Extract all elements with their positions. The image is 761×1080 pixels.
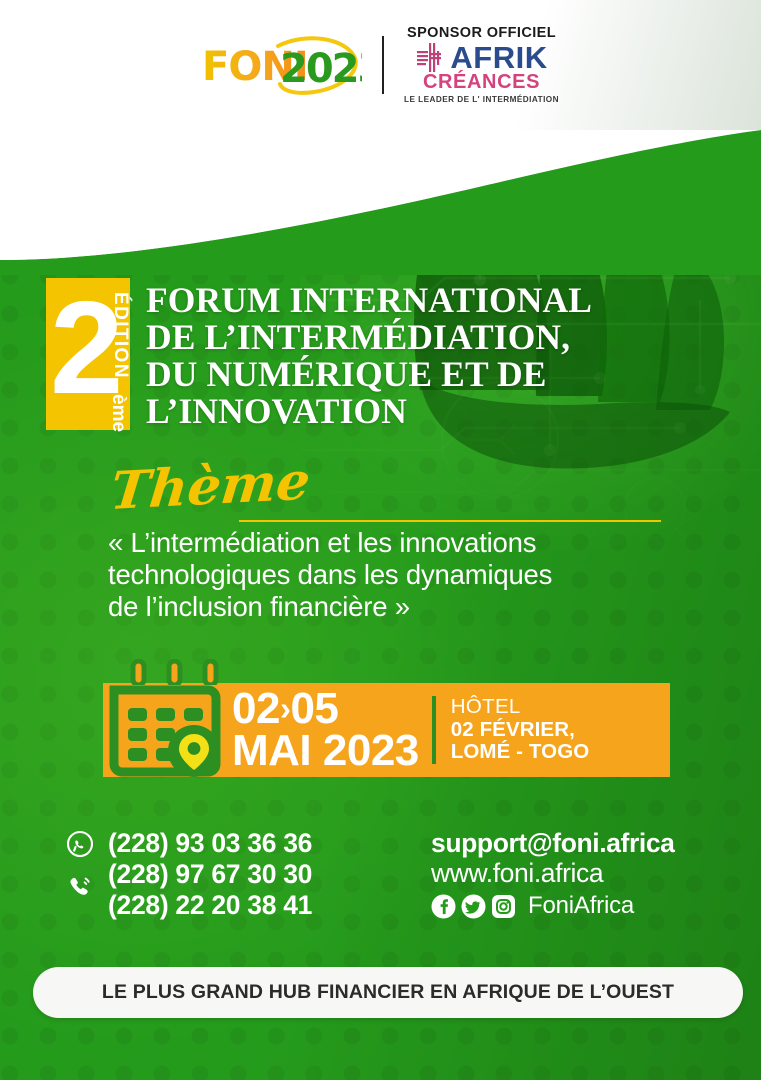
phone-icon-column <box>66 828 100 921</box>
social-handle[interactable]: FoniAfrica <box>528 892 634 920</box>
title-line-3: DU NUMÉRIQUE ET DE <box>146 356 592 393</box>
afrik-wordmark: AFRIK <box>450 43 547 72</box>
logo-divider <box>382 36 384 94</box>
venue-label: HÔTEL <box>451 696 590 719</box>
theme-line-2: technologiques dans les dynamiques <box>108 559 708 591</box>
theme-rule <box>239 520 661 522</box>
theme-line-1: « L’intermédiation et les innovations <box>108 527 708 559</box>
creances-wordmark: CRÉANCES <box>404 72 559 92</box>
theme-heading: Thème <box>108 466 708 528</box>
venue-line-2: LOMÉ - TOGO <box>451 741 590 764</box>
date-month-year: MAI 2023 <box>232 730 419 772</box>
svg-text:2023: 2023 <box>280 46 362 92</box>
date-text-group: 02›05 MAI 2023 HÔTEL 02 FÉVRIER, LOMÉ - … <box>232 683 672 777</box>
footer-tagline: LE PLUS GRAND HUB FINANCIER EN AFRIQUE D… <box>102 981 674 1004</box>
title-block: 2 ÉDITION ème FORUM INTERNATIONAL DE L’I… <box>46 278 592 430</box>
phone-ringing-icon[interactable] <box>66 873 94 903</box>
theme-line-3: de l’inclusion financière » <box>108 591 708 623</box>
whatsapp-icon[interactable] <box>66 830 94 858</box>
phone-group: (228) 93 03 36 36 (228) 97 67 30 30 (228… <box>66 828 312 921</box>
header: FONI 2023 SPONSOR OFFICIEL AFRIK <box>0 0 761 130</box>
venue-block: HÔTEL 02 FÉVRIER, LOMÉ - TOGO <box>451 696 590 765</box>
event-dates: 02›05 MAI 2023 <box>232 688 419 772</box>
title-line-2: DE L’INTERMÉDIATION, <box>146 319 592 356</box>
title-line-1: FORUM INTERNATIONAL <box>146 282 592 319</box>
phone-number-2[interactable]: (228) 97 67 30 30 <box>108 859 312 890</box>
calendar-location-icon <box>108 668 226 780</box>
date-chevron-icon: › <box>280 690 291 727</box>
web-contact-group: support@foni.africa www.foni.africa Foni… <box>431 828 675 920</box>
phone-numbers: (228) 93 03 36 36 (228) 97 67 30 30 (228… <box>108 828 312 921</box>
banner-divider <box>432 696 436 764</box>
theme-section: Thème « L’intermédiation et les innovati… <box>108 466 708 624</box>
social-row: FoniAfrica <box>431 892 675 920</box>
title-line-4: L’INNOVATION <box>146 393 592 430</box>
afrik-creances-logo: SPONSOR OFFICIEL AFRIK CRÉANCES LE LEADE… <box>404 26 559 104</box>
theme-text: « L’intermédiation et les innovations te… <box>108 527 708 624</box>
foni-2023-logo: FONI 2023 <box>202 34 362 96</box>
afrik-row: AFRIK <box>404 41 559 74</box>
instagram-icon[interactable] <box>491 894 516 919</box>
theme-label: Thème <box>108 456 313 518</box>
facebook-icon[interactable] <box>431 894 456 919</box>
logo-row: FONI 2023 SPONSOR OFFICIEL AFRIK <box>202 26 559 104</box>
sponsor-tagline: LE LEADER DE L' INTERMÉDIATION <box>404 95 559 104</box>
edition-suffix: ème <box>107 394 129 432</box>
date-range-line: 02›05 <box>232 688 419 730</box>
venue-line-1: 02 FÉVRIER, <box>451 719 590 742</box>
footer-tagline-pill: LE PLUS GRAND HUB FINANCIER EN AFRIQUE D… <box>33 967 743 1018</box>
email-address[interactable]: support@foni.africa <box>431 828 675 858</box>
page-title: FORUM INTERNATIONAL DE L’INTERMÉDIATION,… <box>146 278 592 430</box>
phone-number-1[interactable]: (228) 93 03 36 36 <box>108 828 312 859</box>
afrik-cross-mark-icon <box>415 41 448 74</box>
website-url[interactable]: www.foni.africa <box>431 858 675 888</box>
twitter-icon[interactable] <box>461 894 486 919</box>
top-curve-divider <box>0 130 761 275</box>
edition-badge: 2 ÉDITION ème <box>46 278 130 430</box>
edition-word: ÉDITION <box>109 292 131 379</box>
phone-number-3[interactable]: (228) 22 20 38 41 <box>108 890 312 921</box>
